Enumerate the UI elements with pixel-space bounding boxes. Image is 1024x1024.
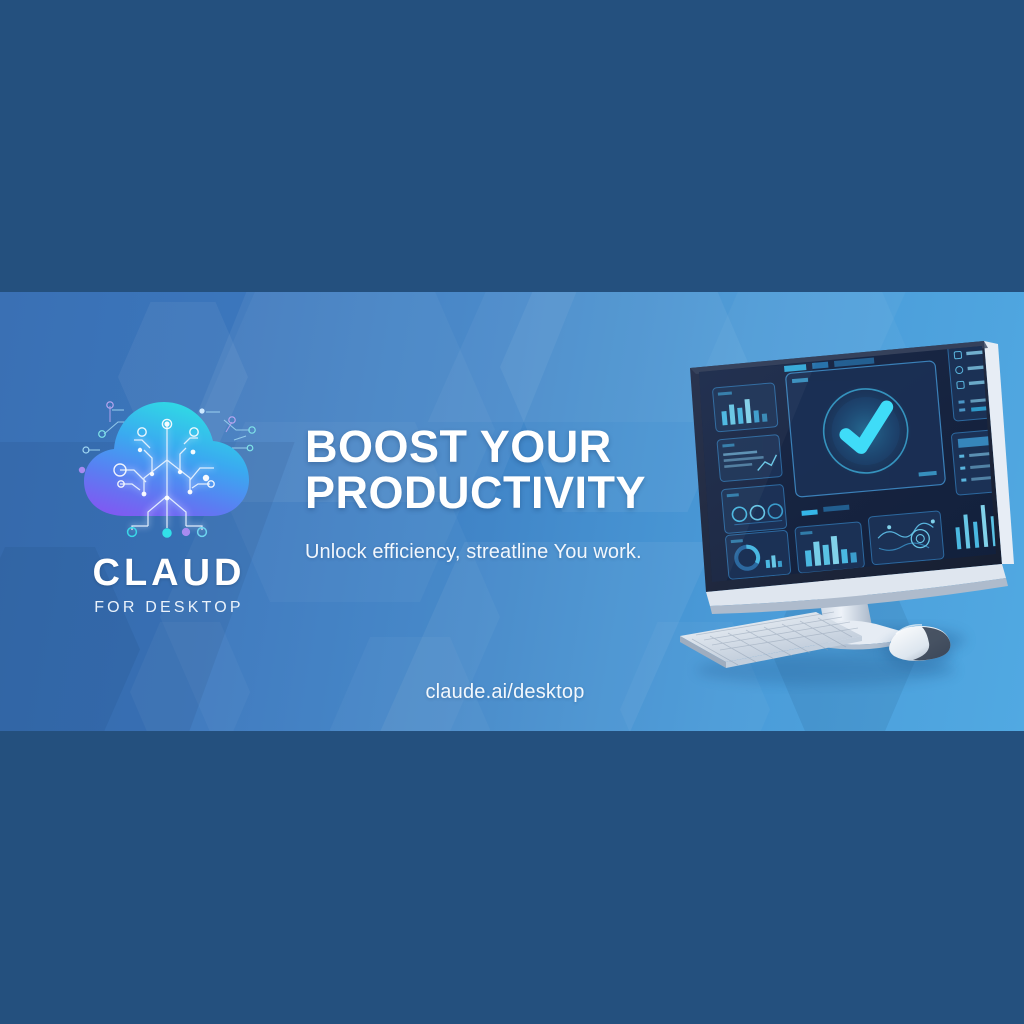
- brand-logo-block: CLAUD FOR DESKTOP: [46, 388, 292, 617]
- brand-name: CLAUD: [46, 554, 292, 592]
- bar-chart-widget: [795, 522, 865, 574]
- poster-canvas: CLAUD FOR DESKTOP BOOST YOUR PRODUCTIVIT…: [0, 0, 1024, 1024]
- map-widget: [868, 511, 944, 565]
- circuit-cloud-icon: [74, 388, 264, 538]
- desktop-scene: [666, 340, 1024, 731]
- website-url: claude.ai/desktop: [305, 681, 705, 704]
- desktop-monitor: [690, 340, 1024, 614]
- brand-tagline: FOR DESKTOP: [46, 599, 292, 617]
- promo-banner: CLAUD FOR DESKTOP BOOST YOUR PRODUCTIVIT…: [0, 292, 1024, 731]
- table-panel: [951, 425, 1024, 495]
- headline: BOOST YOUR PRODUCTIVITY: [305, 424, 725, 516]
- headline-line-1: BOOST YOUR: [305, 421, 612, 472]
- headline-line-2: PRODUCTIVITY: [305, 470, 725, 516]
- dashboard-ui: [699, 340, 1024, 582]
